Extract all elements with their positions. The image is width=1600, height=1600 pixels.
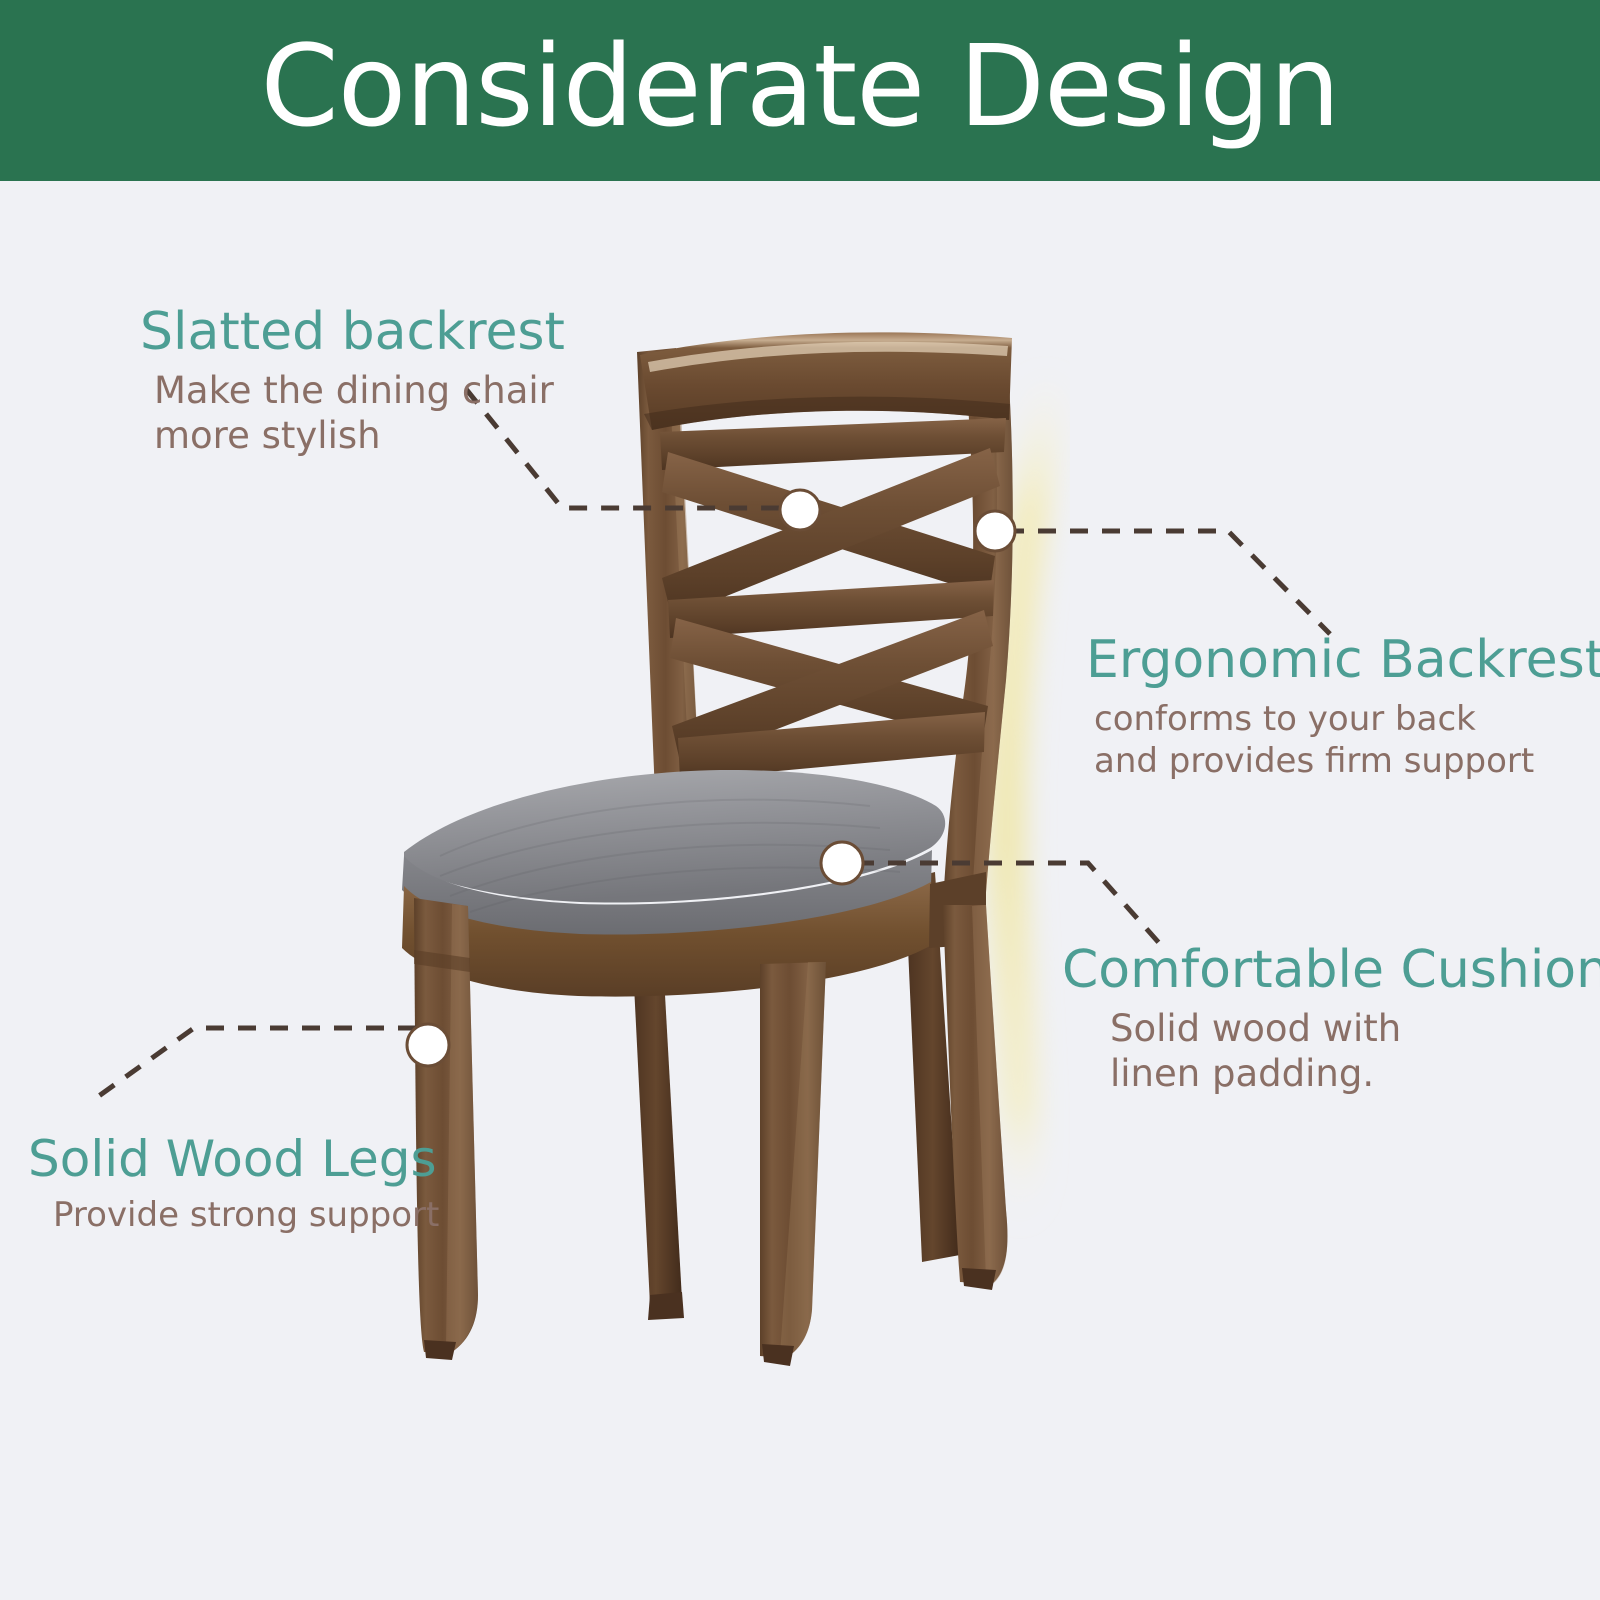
- chair-leg-back-right: [943, 905, 1007, 1284]
- chair-back-cross-1a: [662, 452, 995, 596]
- chair-crest-rail: [640, 332, 1012, 430]
- chair-back-cross-2b: [672, 610, 993, 766]
- marker-ergonomic-backrest[interactable]: [975, 511, 1015, 551]
- chair-seat-apron-right: [929, 872, 986, 948]
- callout-title-solid-wood-legs: Solid Wood Legs: [28, 1133, 439, 1186]
- callout-desc-line: conforms to your back: [1094, 698, 1600, 740]
- chair-seat-cushion: [404, 770, 945, 903]
- cushion-texture: [440, 800, 900, 912]
- callout-desc-line: Solid wood with: [1110, 1006, 1600, 1052]
- callout-desc-line: Provide strong support: [53, 1194, 439, 1236]
- leader-line-ergonomic-backrest: [1006, 531, 1330, 634]
- chair-leg-front-right: [760, 962, 826, 1358]
- marker-slatted-backrest[interactable]: [780, 490, 820, 530]
- callout-desc-line: and provides firm support: [1094, 740, 1600, 782]
- chair-seat-cushion-edge: [402, 850, 932, 939]
- product-illustration: [0, 0, 1600, 1600]
- chair-back-cross-2a: [670, 618, 988, 744]
- callout-desc-comfortable-cushion: Solid wood with linen padding.: [1110, 1006, 1600, 1098]
- callout-desc-line: more stylish: [154, 413, 565, 459]
- callout-desc-slatted-backrest: Make the dining chair more stylish: [154, 368, 565, 460]
- marker-comfortable-cushion[interactable]: [821, 842, 863, 884]
- chair-back-rail-upper: [660, 418, 1006, 470]
- callout-title-ergonomic-backrest: Ergonomic Backrest: [1086, 633, 1600, 688]
- chair-seat-apron-front: [402, 882, 931, 997]
- chair-back-rail-lower: [678, 712, 985, 780]
- callout-desc-ergonomic-backrest: conforms to your back and provides firm …: [1094, 698, 1600, 782]
- chair-back-stile-right: [943, 340, 1013, 905]
- callout-markers: [407, 490, 1015, 1066]
- callout-title-comfortable-cushion: Comfortable Cushion: [1062, 943, 1600, 998]
- callout-title-slatted-backrest: Slatted backrest: [140, 305, 565, 360]
- ergonomic-glow-curve: [1006, 400, 1046, 1200]
- marker-solid-wood-legs[interactable]: [407, 1024, 449, 1066]
- chair-back-stile-left: [637, 348, 700, 795]
- callout-solid-wood-legs: Solid Wood Legs Provide strong support: [28, 1133, 439, 1236]
- callout-desc-solid-wood-legs: Provide strong support: [53, 1194, 439, 1236]
- callout-slatted-backrest: Slatted backrest Make the dining chair m…: [140, 305, 565, 459]
- chair-back-cross-1b: [662, 448, 1000, 618]
- chair-leg-front-left: [414, 898, 478, 1352]
- chair-leg-rear-left: [630, 905, 682, 1305]
- callout-desc-line: linen padding.: [1110, 1051, 1600, 1097]
- dining-chair-graphic: [402, 332, 1013, 1366]
- infographic-canvas: Considerate Design: [0, 0, 1600, 1600]
- chair-back-rail-middle: [668, 580, 994, 638]
- page-title: Considerate Design: [261, 31, 1340, 143]
- callout-comfortable-cushion: Comfortable Cushion Solid wood with line…: [1062, 943, 1600, 1097]
- leader-line-solid-wood-legs: [96, 1028, 416, 1098]
- header-banner: Considerate Design: [0, 0, 1600, 181]
- chair-leg-rear-right-hidden: [905, 872, 960, 1262]
- leader-line-comfortable-cushion: [856, 863, 1160, 944]
- callout-ergonomic-backrest: Ergonomic Backrest conforms to your back…: [1086, 633, 1600, 782]
- callout-desc-line: Make the dining chair: [154, 368, 565, 414]
